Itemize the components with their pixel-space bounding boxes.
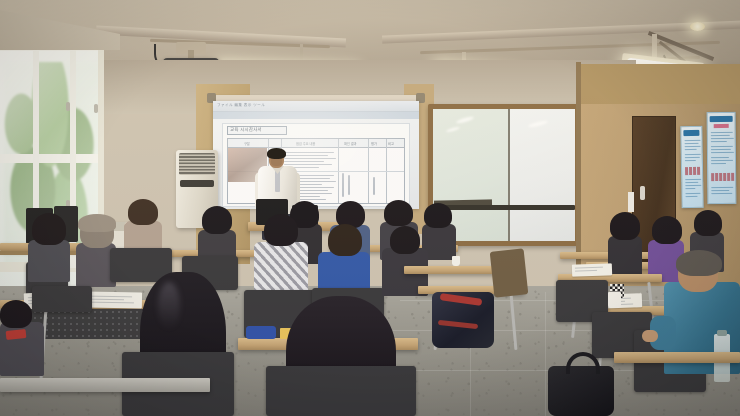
glass-panel-divider — [508, 109, 510, 241]
chair-front-center[interactable] — [266, 366, 416, 416]
frosted-glass-panel-right[interactable] — [510, 109, 575, 241]
attendee-hair — [32, 213, 66, 245]
attendee-hair — [652, 216, 682, 244]
attendee-hair — [128, 199, 158, 225]
attendee-hair — [0, 300, 32, 328]
attendee-hair — [694, 210, 722, 236]
classroom-photo: ファイル 編集 表示 ツール 교육 시시감사서 구분 점검 주요 내용 확인 결… — [0, 0, 740, 416]
air-conditioner-grill — [179, 153, 215, 175]
right-wall-upper — [580, 64, 740, 104]
attendee-hair — [424, 203, 452, 228]
door-handle-icon[interactable] — [640, 186, 645, 200]
attendee-hair — [264, 214, 298, 246]
pull-down-projection-screen: ファイル 編集 表示 ツール 교육 시시감사서 구분 점검 주요 내용 확인 결… — [213, 101, 419, 209]
attendee-hair — [384, 200, 413, 226]
window-frame-h — [0, 154, 104, 163]
attendee-torso — [608, 236, 642, 276]
printed-handouts — [84, 291, 142, 308]
door-frame-plate — [628, 192, 634, 212]
printed-handouts — [572, 263, 612, 276]
attendee-cap — [78, 214, 116, 232]
chair-middle-1[interactable] — [32, 286, 92, 312]
projector-glow — [213, 101, 419, 209]
recessed-spot-icon — [690, 22, 705, 31]
pencil-case — [246, 326, 276, 339]
attendee-hair — [610, 212, 640, 240]
attendee-hand — [642, 330, 658, 342]
presenter-hair — [267, 148, 286, 159]
attendee-hair — [390, 226, 420, 254]
attendee-hair — [202, 206, 232, 234]
attendee-hair-shine — [158, 282, 180, 330]
paper-cup — [608, 292, 621, 308]
paper-cup — [452, 256, 460, 266]
wall-poster-left — [680, 126, 703, 208]
attendee-gray-hair — [676, 250, 722, 276]
window-handle[interactable] — [94, 104, 98, 113]
chair-aisle[interactable] — [490, 248, 529, 297]
air-conditioner-panel[interactable] — [180, 180, 214, 187]
bottle-cap-icon — [717, 330, 727, 336]
tile-seam — [545, 292, 546, 416]
attendee-torso — [28, 240, 70, 282]
desk-front-left — [0, 378, 210, 392]
desk-right-front — [614, 352, 740, 363]
attendee-hair — [328, 224, 362, 256]
marker-tray — [433, 205, 575, 210]
window-handle[interactable] — [66, 102, 70, 111]
wall-poster-right — [707, 112, 737, 204]
